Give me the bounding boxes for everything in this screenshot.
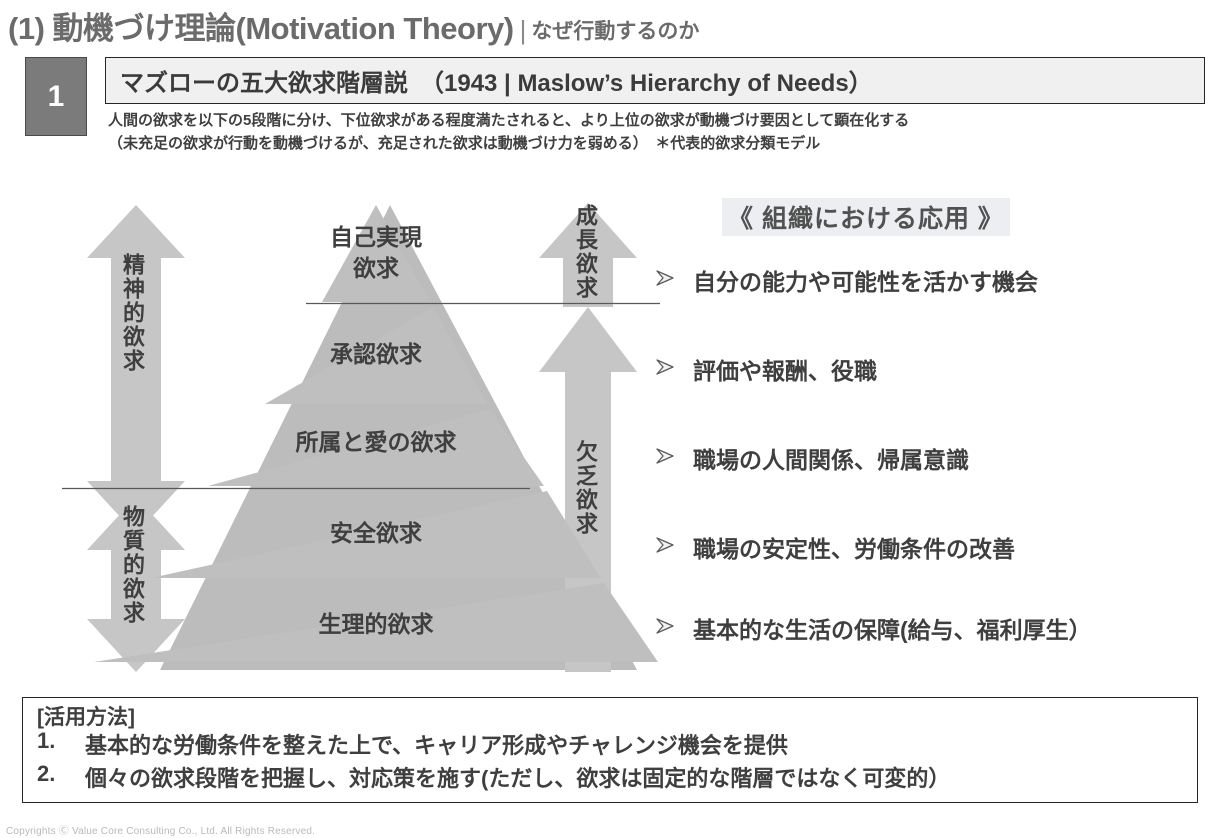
usage-list-item-text: 基本的な労働条件を整えた上で、キャリア形成やチャレンジ機会を提供 (85, 728, 788, 760)
right-arrow-label-deficiency: 欠乏欲求 (574, 440, 596, 536)
application-list-item-label: 自分の能力や可能性を活かす機会 (693, 263, 1038, 297)
left-arrow-label-spiritual-text: 精神的欲求 (120, 253, 145, 373)
right-arrow-label-deficiency-text: 欠乏欲求 (573, 440, 598, 536)
section-lead-line-2: （未充足の欲求が行動を動機づけるが、充足された欲求は動機づけ力を弱める） ＊代表… (108, 133, 1208, 156)
usage-list-item: 1. 基本的な労働条件を整えた上で、キャリア形成やチャレンジ機会を提供 (37, 728, 788, 760)
usage-list-item-number: 2. (37, 761, 85, 793)
left-arrow-label-material-text: 物質的欲求 (120, 505, 145, 625)
application-heading: 《 組織における応用 》 (722, 198, 1010, 236)
application-list-item: 自分の能力や可能性を活かす機会 (655, 263, 1038, 297)
pyramid-label-belonging: 所属と愛の欲求 (296, 429, 457, 455)
application-list-item-label: 職場の安定性、労働条件の改善 (693, 530, 1015, 564)
section-number-badge: 1 (25, 57, 87, 136)
application-list-item: 評価や報酬、役職 (655, 352, 877, 386)
pyramid-label-self-actualization-line1: 自己実現 (330, 224, 422, 250)
usage-box: [活用方法] 1. 基本的な労働条件を整えた上で、キャリア形成やチャレンジ機会を… (22, 697, 1198, 803)
usage-list-item-number: 1. (37, 728, 85, 760)
application-list-item-label: 職場の人間関係、帰属意識 (693, 441, 969, 475)
chevron-right-icon (655, 617, 681, 640)
application-list-item-label: 評価や報酬、役職 (693, 352, 877, 386)
pyramid-label-esteem: 承認欲求 (330, 341, 422, 367)
pyramid-label-physiological: 生理的欲求 (319, 611, 434, 637)
application-list-item: 職場の人間関係、帰属意識 (655, 441, 969, 475)
chevron-right-icon (655, 269, 681, 292)
slide-root: (1) 動機づけ理論(Motivation Theory) | なぜ行動するのか… (0, 0, 1214, 838)
page-title: (1) 動機づけ理論(Motivation Theory) | なぜ行動するのか (8, 4, 1206, 44)
right-arrow-label-growth-text: 成長欲求 (573, 204, 598, 300)
usage-list-item: 2. 個々の欲求段階を把握し、対応策を施す(ただし、欲求は固定的な階層ではなく可… (37, 761, 950, 793)
left-arrow-label-material: 物質的欲求 (121, 505, 143, 625)
section-lead-line-1: 人間の欲求を以下の5段階に分け、下位欲求がある程度満たされると、より上位の欲求が… (108, 110, 1208, 133)
chevron-right-icon (655, 358, 681, 381)
usage-list-item-text: 個々の欲求段階を把握し、対応策を施す(ただし、欲求は固定的な階層ではなく可変的） (85, 761, 950, 793)
application-list-item-label: 基本的な生活の保障(給与、福利厚生） (693, 611, 1092, 645)
application-list-item: 基本的な生活の保障(給与、福利厚生） (655, 611, 1092, 645)
page-title-subtitle: なぜ行動するのか (531, 21, 699, 42)
right-arrow-label-growth: 成長欲求 (574, 204, 596, 300)
maslow-pyramid-diagram: 自己実現 欲求 承認欲求 所属と愛の欲求 安全欲求 生理的欲求 (0, 185, 1214, 680)
page-title-separator: | (520, 17, 527, 43)
pyramid-label-self-actualization-line2: 欲求 (352, 255, 399, 281)
section-header-box: マズローの五大欲求階層説 （1943 | Maslow’s Hierarchy … (105, 57, 1205, 104)
pyramid-label-safety: 安全欲求 (330, 520, 422, 546)
section-header-title: マズローの五大欲求階層説 （1943 | Maslow’s Hierarchy … (106, 63, 873, 98)
application-list-item: 職場の安定性、労働条件の改善 (655, 530, 1015, 564)
page-title-main: (1) 動機づけ理論(Motivation Theory) (8, 13, 514, 44)
chevron-right-icon (655, 536, 681, 559)
chevron-right-icon (655, 447, 681, 470)
usage-heading: [活用方法] (37, 701, 135, 731)
section-lead-text: 人間の欲求を以下の5段階に分け、下位欲求がある程度満たされると、より上位の欲求が… (108, 110, 1208, 155)
left-arrow-label-spiritual: 精神的欲求 (121, 253, 143, 373)
copyright-footer: Copyrights Ⓒ Value Core Consulting Co., … (6, 822, 315, 837)
